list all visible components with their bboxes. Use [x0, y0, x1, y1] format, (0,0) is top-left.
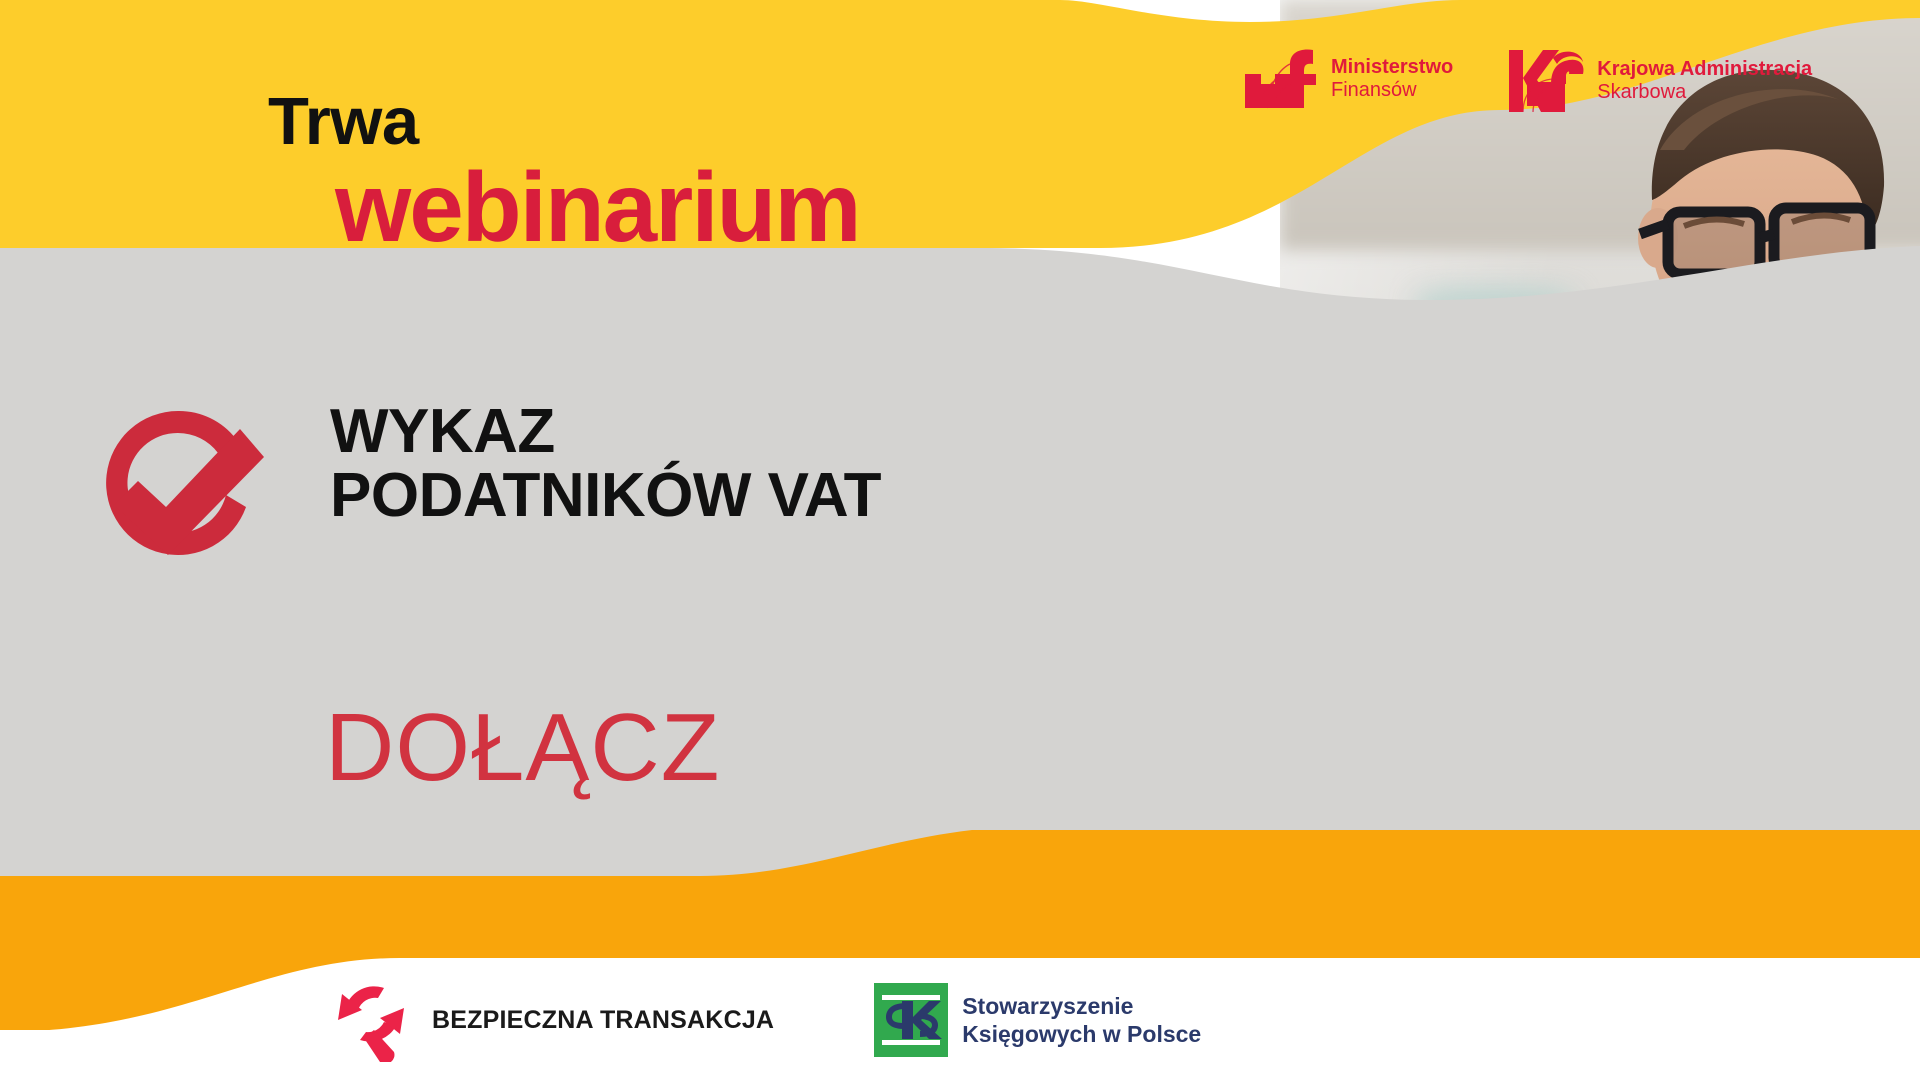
- logo-krajowa-administracja-skarbowa: Krajowa Administracja Skarbowa: [1509, 48, 1812, 114]
- government-logos: Ministerstwo Finansów: [1245, 48, 1812, 114]
- mf-monogram-icon: [1245, 48, 1319, 110]
- kas-monogram-icon: [1509, 48, 1585, 114]
- logo-skp-line2: Księgowych w Polsce: [962, 1020, 1201, 1048]
- topic-block: WYKAZ PODATNIKÓW VAT: [330, 400, 881, 529]
- logo-stowarzyszenie-ksiegowych: Stowarzyszenie Księgowych w Polsce: [874, 983, 1201, 1057]
- logo-ministerstwo-finansow-text: Ministerstwo Finansów: [1331, 56, 1453, 102]
- logo-mf-line1: Ministerstwo: [1331, 56, 1453, 79]
- logo-skp-line1: Stowarzyszenie: [962, 992, 1201, 1020]
- logo-bezpieczna-transakcja-label: BEZPIECZNA TRANSAKCJA: [432, 1006, 774, 1035]
- topic-line-1: WYKAZ: [330, 400, 881, 464]
- logo-skp-text: Stowarzyszenie Księgowych w Polsce: [962, 992, 1201, 1048]
- eyebrow-text: Trwa: [268, 88, 419, 155]
- logo-kas-text: Krajowa Administracja Skarbowa: [1597, 58, 1812, 104]
- logo-kas-line1: Krajowa Administracja: [1597, 58, 1812, 81]
- logo-ministerstwo-finansow: Ministerstwo Finansów: [1245, 48, 1453, 110]
- webinar-banner: Trwa webinarium WYKAZ PODATNIKÓW VAT DOŁ…: [0, 0, 1920, 1080]
- circle-checkmark-icon: [78, 395, 278, 570]
- join-cta[interactable]: DOŁĄCZ: [325, 700, 720, 796]
- footer-logos: BEZPIECZNA TRANSAKCJA Stowarzyszenie Ksi…: [0, 975, 1920, 1065]
- logo-bezpieczna-transakcja: BEZPIECZNA TRANSAKCJA: [330, 978, 774, 1062]
- skp-monogram-icon: [874, 983, 948, 1057]
- refresh-magnifier-icon: [330, 978, 416, 1062]
- logo-mf-line2: Finansów: [1331, 79, 1453, 102]
- headline-text: webinarium: [335, 158, 860, 256]
- logo-kas-line2: Skarbowa: [1597, 81, 1812, 104]
- topic-line-2: PODATNIKÓW VAT: [330, 464, 881, 528]
